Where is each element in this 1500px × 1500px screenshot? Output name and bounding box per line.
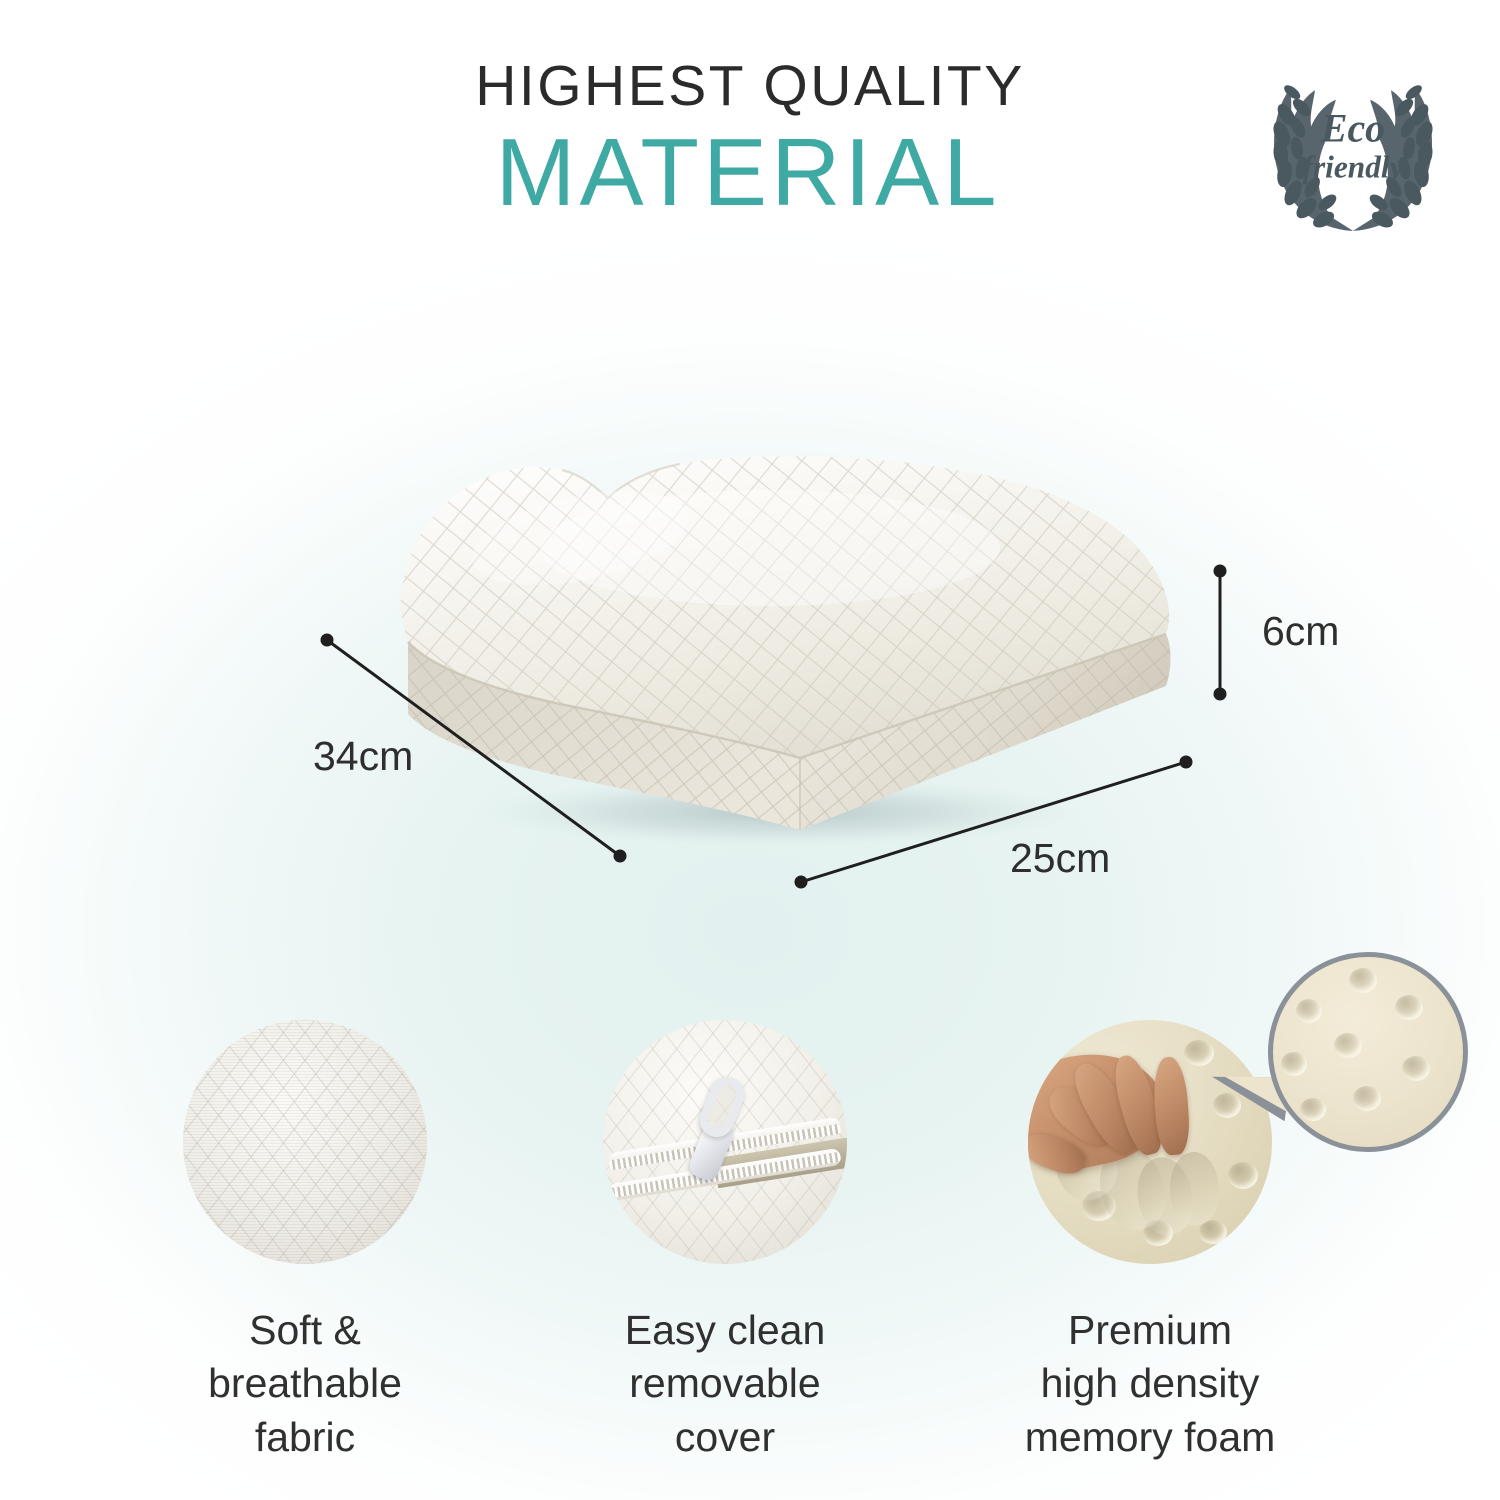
quilted-fabric-swatch-icon — [183, 1020, 427, 1264]
callout-foam-dimple — [1334, 1033, 1362, 1058]
feature-caption-line: breathable — [95, 1357, 515, 1410]
callout-foam-dimple — [1353, 1086, 1381, 1111]
dimension-label-length: 34cm — [313, 733, 413, 780]
memory-foam-detail-callout — [1268, 952, 1468, 1152]
feature-item-fabric: Soft & breathable fabric — [95, 1020, 515, 1464]
feature-caption-line: cover — [515, 1411, 935, 1464]
hand-pressing-memory-foam-icon — [1028, 1020, 1272, 1264]
zipper-closeup-icon — [603, 1020, 847, 1264]
callout-foam-dimple — [1300, 1098, 1326, 1121]
product-image-pillow — [330, 420, 1230, 850]
callout-foam-dimple — [1281, 1052, 1307, 1076]
callout-foam-dimple — [1395, 995, 1423, 1020]
feature-caption-line: high density — [940, 1357, 1360, 1410]
callout-foam-surface — [1268, 952, 1468, 1152]
feature-caption-foam: Premium high density memory foam — [940, 1304, 1360, 1464]
feature-caption-line: fabric — [95, 1411, 515, 1464]
foam-groove — [1168, 1151, 1219, 1226]
feature-caption-cover: Easy clean removable cover — [515, 1304, 935, 1464]
eco-friendly-badge: Eco friendly — [1258, 58, 1448, 248]
callout-foam-dimple — [1349, 968, 1377, 993]
callout-foam-dimple — [1402, 1056, 1430, 1081]
feature-caption-line: Premium — [940, 1304, 1360, 1357]
feature-caption-line: memory foam — [940, 1411, 1360, 1464]
eco-badge-text-bottom: friendly — [1303, 150, 1404, 185]
feature-item-cover: Easy clean removable cover — [515, 1020, 935, 1464]
dimension-label-height: 6cm — [1262, 608, 1339, 655]
feature-caption-line: Soft & — [95, 1304, 515, 1357]
callout-foam-dimple — [1296, 999, 1322, 1023]
feature-caption-line: removable — [515, 1357, 935, 1410]
foam-dimple — [1228, 1162, 1258, 1189]
foam-dimple — [1184, 1040, 1214, 1066]
dimension-label-width: 25cm — [1010, 835, 1110, 882]
eco-badge-text-top: Eco — [1320, 106, 1385, 151]
feature-caption-line: Easy clean — [515, 1304, 935, 1357]
feature-caption-fabric: Soft & breathable fabric — [95, 1304, 515, 1464]
